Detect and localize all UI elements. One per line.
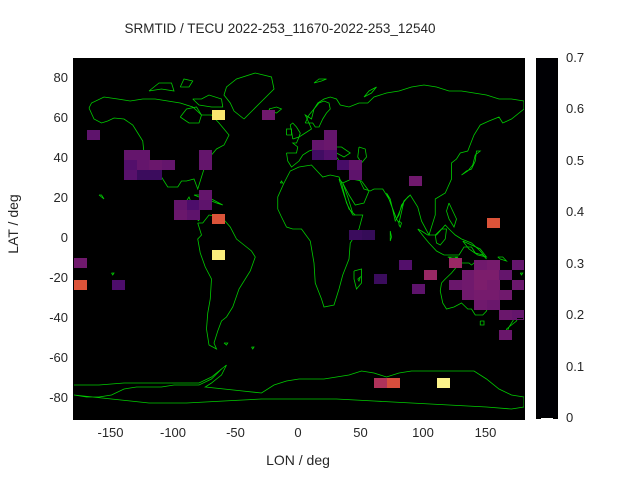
y-tick-mark [517, 198, 523, 199]
x-tick-mark [173, 58, 174, 64]
y-tick-label: 80 [12, 71, 68, 85]
x-tick-mark [486, 412, 487, 418]
heatmap-cell [199, 190, 212, 200]
heatmap-plot-area [73, 58, 525, 420]
heatmap-cell-layer [74, 59, 524, 419]
heatmap-cell [124, 160, 137, 170]
heatmap-cell [312, 140, 325, 150]
heatmap-cell [324, 130, 337, 140]
y-tick-mark [73, 318, 79, 319]
heatmap-cell [162, 160, 175, 170]
y-tick-mark [517, 78, 523, 79]
x-tick-label: 100 [393, 426, 453, 440]
heatmap-cell [487, 218, 500, 228]
y-tick-label: 40 [12, 151, 68, 165]
colorbar-tick-mark [536, 264, 541, 265]
x-axis-label: LON / deg [73, 452, 523, 468]
heatmap-cell [199, 160, 212, 170]
colorbar-tick-label: 0.1 [566, 360, 616, 374]
heatmap-cell [512, 280, 525, 290]
heatmap-cell [149, 160, 162, 170]
heatmap-cell [487, 270, 500, 280]
heatmap-cell [409, 176, 422, 186]
heatmap-cell [499, 330, 512, 340]
heatmap-cell [124, 150, 137, 160]
colorbar-tick-mark [536, 161, 541, 162]
colorbar-tick-label: 0.2 [566, 308, 616, 322]
colorbar-tick-mark [536, 58, 541, 59]
x-tick-mark [361, 412, 362, 418]
heatmap-cell [349, 170, 362, 180]
heatmap-cell [462, 290, 475, 300]
heatmap-cell [487, 290, 500, 300]
heatmap-cell [487, 260, 500, 270]
heatmap-cell [412, 284, 425, 294]
colorbar-tick-label: 0 [566, 411, 616, 425]
x-tick-mark [111, 58, 112, 64]
colorbar-tick-mark [553, 161, 558, 162]
y-tick-mark [73, 118, 79, 119]
colorbar-tick-mark [553, 367, 558, 368]
heatmap-cell [187, 200, 200, 210]
colorbar-tick-mark [536, 109, 541, 110]
colorbar-tick-mark [553, 418, 558, 419]
colorbar [536, 58, 558, 418]
y-tick-mark [73, 198, 79, 199]
heatmap-cell [474, 260, 487, 270]
heatmap-cell [499, 290, 512, 300]
colorbar-tick-label: 0.6 [566, 102, 616, 116]
colorbar-tick-mark [553, 264, 558, 265]
y-tick-mark [73, 158, 79, 159]
heatmap-cell [212, 110, 225, 120]
y-tick-mark [517, 278, 523, 279]
heatmap-cell [499, 310, 512, 320]
heatmap-cell [374, 378, 387, 388]
heatmap-cell [74, 258, 87, 268]
x-tick-label: -100 [143, 426, 203, 440]
x-tick-mark [298, 58, 299, 64]
colorbar-tick-label: 0.5 [566, 154, 616, 168]
colorbar-gradient [537, 59, 557, 417]
colorbar-tick-mark [536, 367, 541, 368]
colorbar-tick-mark [536, 212, 541, 213]
heatmap-cell [312, 150, 325, 160]
x-tick-label: -150 [81, 426, 141, 440]
y-tick-label: 60 [12, 111, 68, 125]
heatmap-cell [499, 270, 512, 280]
y-tick-mark [517, 158, 523, 159]
heatmap-cell [487, 300, 500, 310]
colorbar-tick-label: 0.3 [566, 257, 616, 271]
heatmap-cell [512, 260, 525, 270]
heatmap-cell [324, 150, 337, 160]
heatmap-cell [374, 274, 387, 284]
heatmap-cell [212, 250, 225, 260]
x-tick-mark [423, 412, 424, 418]
x-tick-mark [298, 412, 299, 418]
colorbar-tick-mark [553, 212, 558, 213]
colorbar-tick-mark [536, 418, 541, 419]
heatmap-cell [337, 160, 350, 170]
heatmap-cell [324, 140, 337, 150]
heatmap-cell [424, 270, 437, 280]
x-tick-label: 0 [268, 426, 328, 440]
heatmap-cell [449, 258, 462, 268]
y-tick-mark [73, 398, 79, 399]
x-tick-mark [236, 58, 237, 64]
colorbar-tick-mark [536, 315, 541, 316]
y-tick-mark [517, 118, 523, 119]
page-title: SRMTID / TECU 2022-253_11670-2022-253_12… [0, 21, 560, 36]
heatmap-cell [199, 200, 212, 210]
x-tick-label: -50 [206, 426, 266, 440]
heatmap-cell [349, 230, 362, 240]
colorbar-tick-mark [553, 58, 558, 59]
y-tick-mark [73, 278, 79, 279]
heatmap-cell [449, 280, 462, 290]
heatmap-cell [474, 270, 487, 280]
heatmap-cell [87, 130, 100, 140]
heatmap-cell [187, 210, 200, 220]
heatmap-cell [487, 280, 500, 290]
y-tick-mark [73, 358, 79, 359]
heatmap-cell [349, 160, 362, 170]
figure-canvas: SRMTID / TECU 2022-253_11670-2022-253_12… [0, 0, 640, 480]
x-tick-label: 150 [456, 426, 516, 440]
x-tick-mark [236, 412, 237, 418]
y-tick-mark [517, 318, 523, 319]
x-tick-label: 50 [331, 426, 391, 440]
heatmap-cell [174, 210, 187, 220]
y-tick-label: -60 [12, 351, 68, 365]
heatmap-cell [462, 280, 475, 290]
heatmap-cell [74, 280, 87, 290]
heatmap-cell [174, 200, 187, 210]
heatmap-cell [112, 280, 125, 290]
heatmap-cell [262, 110, 275, 120]
heatmap-cell [387, 378, 400, 388]
heatmap-cell [474, 280, 487, 290]
heatmap-cell [474, 300, 487, 310]
y-axis-label: LAT / deg [5, 164, 21, 284]
heatmap-cell [437, 378, 450, 388]
heatmap-cell [199, 150, 212, 160]
y-tick-mark [73, 238, 79, 239]
y-tick-mark [73, 78, 79, 79]
heatmap-cell [124, 170, 137, 180]
colorbar-tick-label: 0.7 [566, 51, 616, 65]
heatmap-cell [399, 260, 412, 270]
colorbar-tick-label: 0.4 [566, 205, 616, 219]
y-tick-label: -40 [12, 311, 68, 325]
heatmap-cell [474, 290, 487, 300]
x-tick-mark [361, 58, 362, 64]
heatmap-cell [137, 160, 150, 170]
heatmap-cell [149, 170, 162, 180]
y-tick-label: -80 [12, 391, 68, 405]
x-tick-mark [486, 58, 487, 64]
y-tick-mark [517, 238, 523, 239]
x-tick-mark [423, 58, 424, 64]
heatmap-cell [362, 230, 375, 240]
y-tick-mark [517, 358, 523, 359]
heatmap-cell [137, 170, 150, 180]
colorbar-tick-mark [553, 109, 558, 110]
x-tick-mark [111, 412, 112, 418]
colorbar-tick-mark [553, 315, 558, 316]
x-tick-mark [173, 412, 174, 418]
heatmap-cell [462, 270, 475, 280]
x-axis-tick-labels: -150-100-50050100150 [0, 426, 640, 446]
heatmap-cell [137, 150, 150, 160]
heatmap-cell [212, 214, 225, 224]
y-tick-mark [517, 398, 523, 399]
